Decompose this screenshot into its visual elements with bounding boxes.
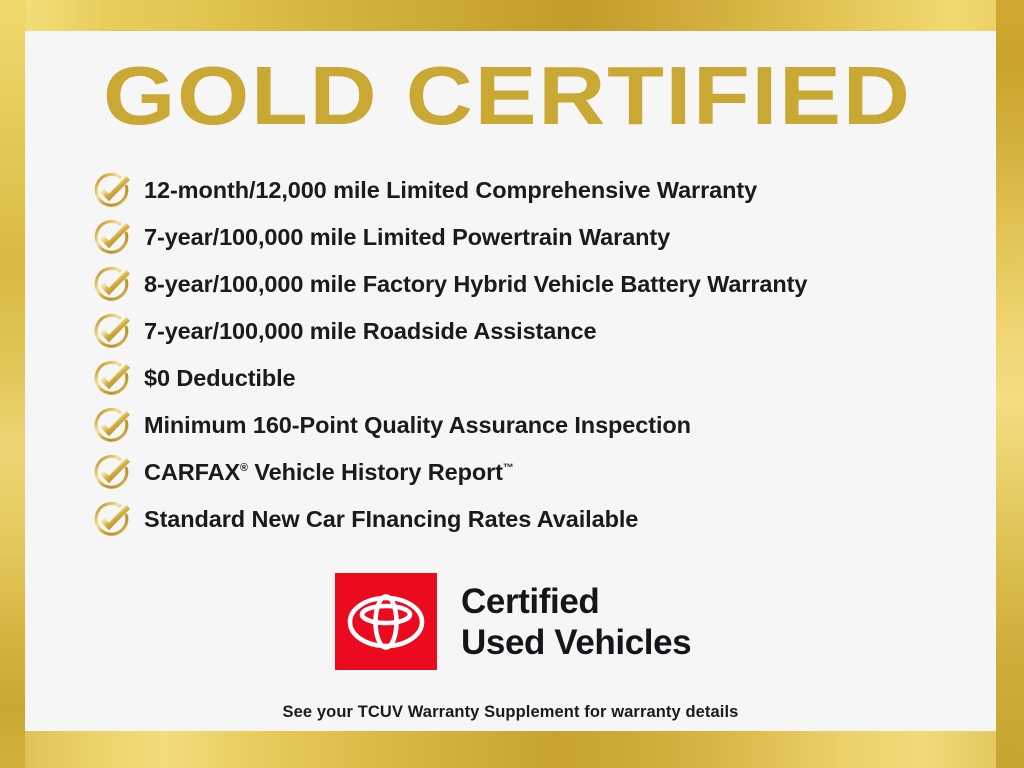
page-title: GOLD CERTIFIED (103, 51, 1024, 141)
benefit-row: 7-year/100,000 mile Limited Powertrain W… (91, 214, 991, 261)
toyota-emblem-icon (347, 594, 425, 650)
gold-check-icon (91, 499, 132, 540)
benefit-row: Minimum 160-Point Quality Assurance Insp… (91, 402, 991, 449)
benefit-text: CARFAX® Vehicle History Report™ (144, 459, 514, 486)
gold-check-icon (91, 311, 132, 352)
benefit-text: 7-year/100,000 mile Roadside Assistance (144, 318, 596, 345)
toyota-certified-used-vehicles-lockup: Certified Used Vehicles (335, 573, 691, 670)
benefit-text: Minimum 160-Point Quality Assurance Insp… (144, 412, 691, 439)
certification-badge-graphic: GOLD CERTIFIED 12-month/12,000 mile Limi… (0, 0, 1024, 768)
gold-check-icon (91, 452, 132, 493)
gold-border-top (0, 0, 1024, 31)
brand-line-2: Used Vehicles (461, 622, 691, 663)
benefit-row: 8-year/100,000 mile Factory Hybrid Vehic… (91, 261, 991, 308)
benefit-row: 7-year/100,000 mile Roadside Assistance (91, 308, 991, 355)
gold-check-icon (91, 405, 132, 446)
benefit-text: $0 Deductible (144, 365, 296, 392)
registered-mark: ® (240, 462, 248, 474)
benefit-row: CARFAX® Vehicle History Report™ (91, 449, 991, 496)
footer-disclaimer: See your TCUV Warranty Supplement for wa… (25, 703, 996, 722)
benefit-text: Standard New Car FInancing Rates Availab… (144, 506, 638, 533)
benefit-text: 8-year/100,000 mile Factory Hybrid Vehic… (144, 271, 807, 298)
brand-line-1: Certified (461, 581, 691, 622)
toyota-wordmark: Certified Used Vehicles (461, 581, 691, 663)
benefit-text: 12-month/12,000 mile Limited Comprehensi… (144, 177, 757, 204)
gold-check-icon (91, 217, 132, 258)
benefits-list: 12-month/12,000 mile Limited Comprehensi… (91, 167, 991, 543)
content-card: GOLD CERTIFIED 12-month/12,000 mile Limi… (25, 31, 996, 731)
benefit-row: Standard New Car FInancing Rates Availab… (91, 496, 991, 543)
benefit-row: $0 Deductible (91, 355, 991, 402)
gold-border-left (0, 0, 25, 768)
gold-check-icon (91, 170, 132, 211)
gold-border-bottom (0, 731, 1024, 768)
trademark-mark: ™ (503, 462, 514, 474)
benefit-row: 12-month/12,000 mile Limited Comprehensi… (91, 167, 991, 214)
gold-check-icon (91, 264, 132, 305)
benefit-text: 7-year/100,000 mile Limited Powertrain W… (144, 224, 670, 251)
toyota-logo-tile (335, 573, 437, 670)
gold-check-icon (91, 358, 132, 399)
